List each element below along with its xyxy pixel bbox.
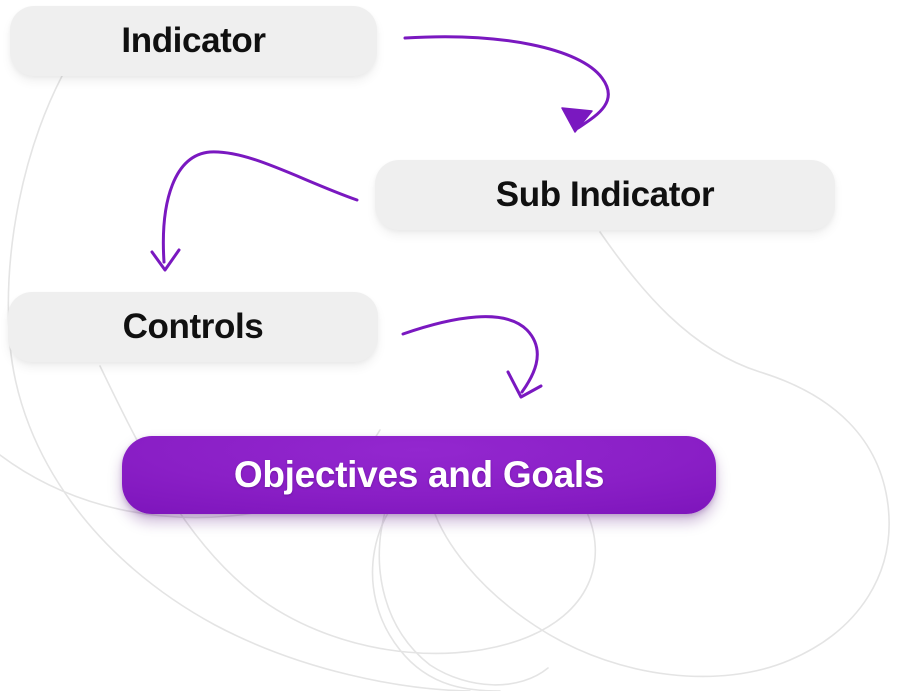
node-sub-indicator[interactable]: Sub Indicator (375, 160, 835, 230)
connector-sub-indicator-to-controls (163, 152, 357, 262)
arrowhead-filled-triangle-indicator (562, 108, 592, 132)
decor-curve-controls-loop (100, 366, 595, 691)
arrowhead-chevron-objectives (508, 372, 541, 397)
node-indicator[interactable]: Indicator (10, 6, 377, 76)
node-objectives-and-goals-label: Objectives and Goals (234, 454, 604, 496)
arrowhead-chevron-controls (152, 250, 179, 270)
diagram-canvas: Indicator Sub Indicator Controls Objecti… (0, 0, 900, 691)
node-controls[interactable]: Controls (8, 292, 378, 362)
node-sub-indicator-label: Sub Indicator (496, 175, 714, 215)
connector-indicator-to-sub-indicator (405, 37, 608, 128)
node-controls-label: Controls (123, 307, 264, 347)
decor-curve-inner-loop (379, 512, 548, 685)
connector-controls-to-objectives (403, 317, 537, 392)
node-objectives-and-goals[interactable]: Objectives and Goals (122, 436, 716, 514)
node-indicator-label: Indicator (121, 21, 265, 61)
